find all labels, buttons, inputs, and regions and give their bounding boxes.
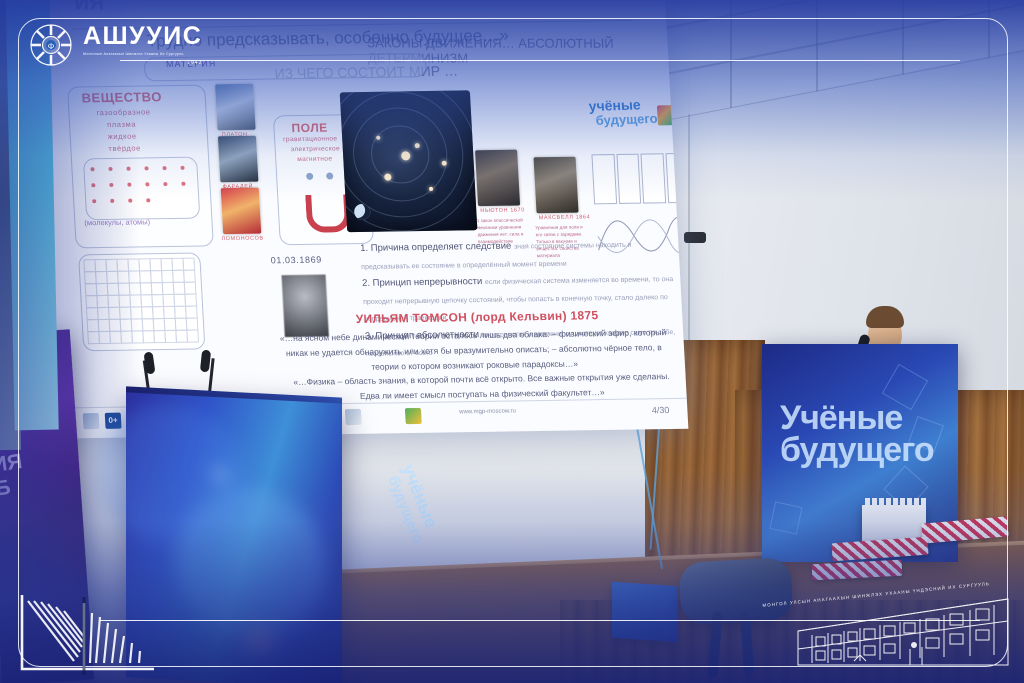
svg-text:Ф: Ф bbox=[48, 42, 54, 51]
principle-row-1: 1. Причина определяет следствие зная сос… bbox=[360, 235, 678, 275]
slide-date: 01.03.1869 bbox=[270, 255, 322, 266]
banner-right-line2: будущего bbox=[780, 434, 934, 466]
principle-title-2: Принцип непрерывности bbox=[372, 276, 482, 289]
footer-logo-3 bbox=[345, 409, 362, 425]
portrait-caption-maxwell: МАКСВЕЛЛ 1864 bbox=[539, 214, 591, 221]
principle-title-1: Причина определяет следствие bbox=[370, 241, 511, 254]
kelvin-quote: «…на ясном небе динамической теории оста… bbox=[273, 325, 676, 376]
footer-logo-4 bbox=[405, 408, 422, 424]
portrait-caption-lomonosov: ЛОМОНОСОВ bbox=[221, 236, 264, 243]
university-logo: Ф АШУУИС Монголын Анагаахын Шинжлэх Ухаа… bbox=[28, 22, 202, 68]
logo-text-block: АШУУИС Монголын Анагаахын Шинжлэх Ухааны… bbox=[83, 24, 202, 65]
logo-subtitle: Монголын Анагаахын Шинжлэх Ухааны Их Сур… bbox=[83, 52, 202, 57]
slide-page-number: 4/30 bbox=[652, 405, 670, 415]
conference-photo-frame: ИЯ Трудно предсказывать, особенно будуще… bbox=[0, 0, 1024, 683]
periodic-cell bbox=[186, 329, 199, 342]
portrait-mendeleev bbox=[282, 275, 329, 338]
speaker-hair bbox=[866, 306, 904, 328]
principle-num-1: 1. bbox=[360, 243, 369, 254]
principle-num-2: 2. bbox=[362, 278, 371, 289]
frame-line-top bbox=[120, 60, 960, 61]
banner-right-text: Учёные будущего bbox=[780, 402, 934, 467]
portrait-caption-newton: НЬЮТОН 1670 bbox=[480, 207, 525, 214]
logo-name: АШУУИС bbox=[83, 24, 202, 49]
moon-icon bbox=[354, 204, 371, 220]
logo-year: 1942 bbox=[83, 60, 202, 66]
banner-right-line1: Учёные bbox=[780, 402, 934, 434]
open-book-icon bbox=[8, 557, 168, 677]
security-camera-icon bbox=[684, 232, 706, 243]
footer-site: www.mgp-moscow.ru bbox=[459, 408, 516, 415]
university-emblem-icon: Ф bbox=[28, 22, 74, 68]
